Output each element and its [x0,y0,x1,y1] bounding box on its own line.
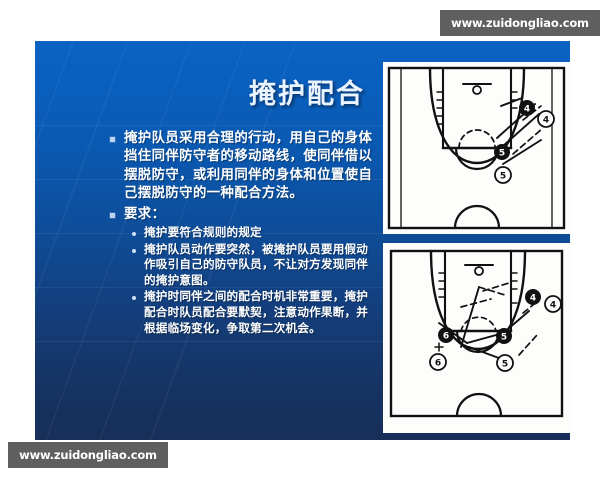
dot-bullet-icon [132,249,136,253]
defense-marker-4: 4 [545,296,561,312]
svg-text:6: 6 [443,332,449,342]
list-item: 要求： [110,205,375,223]
list-item-label: 要求： [124,205,165,223]
dot-bullet-icon [132,232,136,236]
square-bullet-icon [110,137,115,142]
watermark-bottom: www.zuidongliao.com [8,442,168,468]
defense-marker-5: 5 [495,167,511,183]
offense-marker-6: 6 [438,327,454,343]
svg-text:6: 6 [435,359,441,369]
offense-marker-4: 4 [525,289,541,305]
screen-play-diagram-top: 4 5 4 5 [383,62,570,234]
list-item: 掩护要符合规则的规定 [132,225,375,241]
offense-marker-4: 4 [519,100,535,116]
list-item: 掩护时同伴之间的配合时机非常重要，掩护配合时队员配合要默契，注意动作果断，并根据… [132,289,375,336]
list-item: 掩护队员采用合理的行动，用自己的身体挡住同伴防守者的移动路线，使同伴借以摆脱防守… [110,129,375,203]
svg-text:5: 5 [500,172,506,182]
slide-canvas: 掩护配合 掩护队员采用合理的行动，用自己的身体挡住同伴防守者的移动路线，使同伴借… [35,41,570,440]
svg-text:5: 5 [499,149,505,159]
content-body: 掩护队员采用合理的行动，用自己的身体挡住同伴防守者的移动路线，使同伴借以摆脱防守… [110,129,375,337]
watermark-top: www.zuidongliao.com [440,10,600,36]
svg-text:4: 4 [524,105,530,115]
svg-text:4: 4 [550,301,556,311]
offense-marker-5: 5 [494,144,510,160]
svg-text:4: 4 [543,116,549,126]
list-item-label: 掩护队员采用合理的行动，用自己的身体挡住同伴防守者的移动路线，使同伴借以摆脱防守… [124,129,375,203]
list-item-label: 掩护队员动作要突然，被掩护队员要用假动作吸引自己的防守队员，不让对方发现同伴的掩… [144,242,375,289]
defense-marker-4: 4 [538,111,554,127]
svg-text:5: 5 [501,333,507,343]
page-title: 掩护配合 [35,72,365,111]
svg-text:5: 5 [502,360,508,370]
list-item-label: 掩护要符合规则的规定 [144,225,262,241]
svg-text:4: 4 [530,294,536,304]
defense-marker-6: 6 [430,354,446,370]
screen-play-diagram-bottom: 6 5 4 6 5 4 [383,243,570,433]
list-item-label: 掩护时同伴之间的配合时机非常重要，掩护配合时队员配合要默契，注意动作果断，并根据… [144,289,375,336]
dot-bullet-icon [132,296,136,300]
list-item: 掩护队员动作要突然，被掩护队员要用假动作吸引自己的防守队员，不让对方发现同伴的掩… [132,242,375,289]
defense-marker-5: 5 [497,355,513,371]
square-bullet-icon [110,213,115,218]
offense-marker-5: 5 [496,328,512,344]
